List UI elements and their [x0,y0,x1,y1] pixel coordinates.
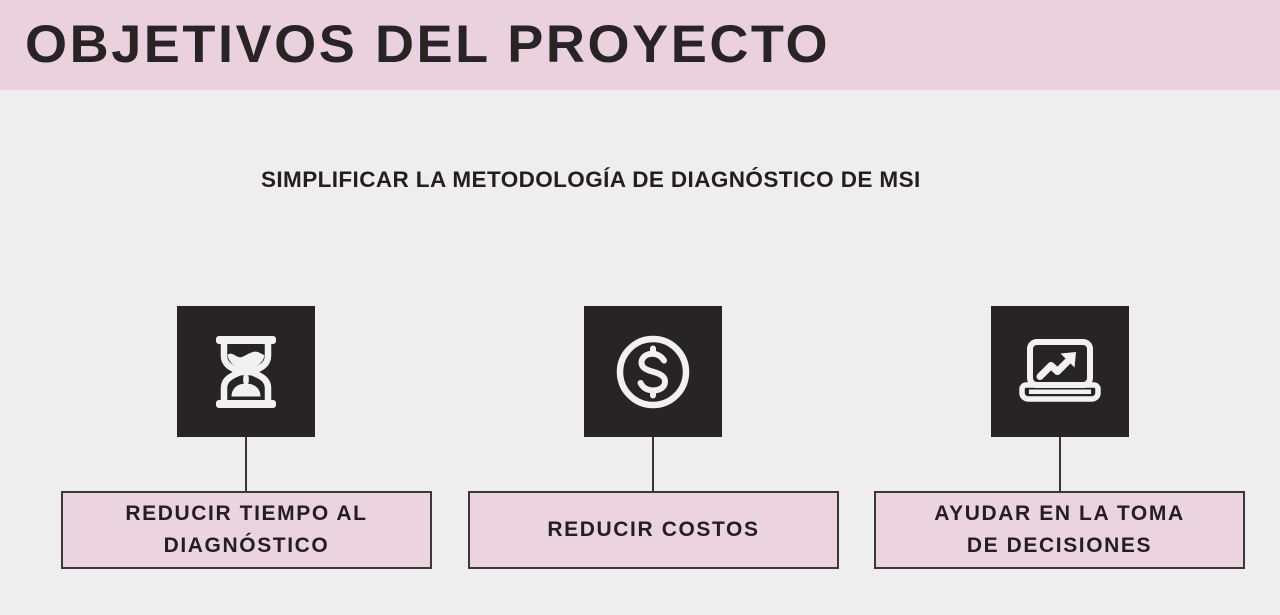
objective-label-3-line2: DE DECISIONES [967,534,1152,557]
icon-box-laptop-chart [991,306,1129,437]
objective-column-3: AYUDAR EN LA TOMA DE DECISIONES [0,0,1280,615]
connector-line-3 [1059,437,1061,491]
objective-label-3-line1: AYUDAR EN LA TOMA [934,502,1184,525]
objective-label-3: AYUDAR EN LA TOMA DE DECISIONES [926,498,1192,562]
objective-label-box-3[interactable]: AYUDAR EN LA TOMA DE DECISIONES [874,491,1245,569]
laptop-growth-chart-icon [1016,337,1104,407]
